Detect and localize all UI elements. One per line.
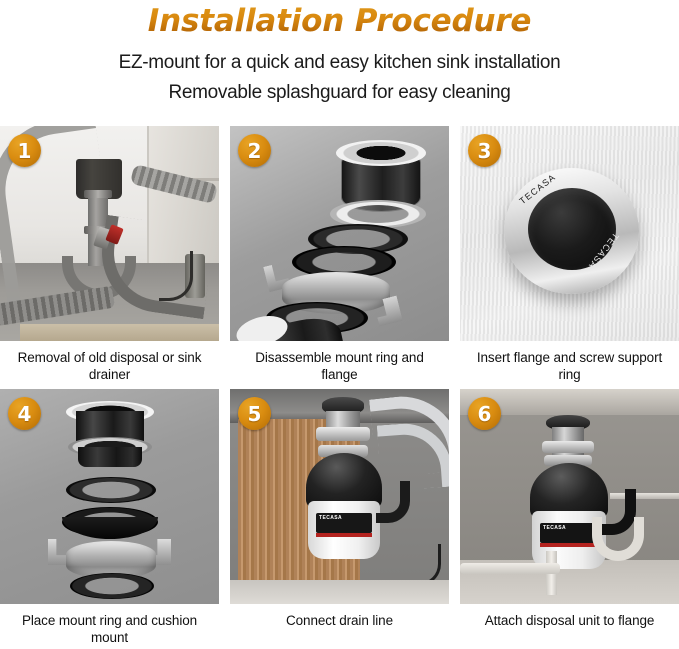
drain-line: [460, 563, 560, 574]
step-image-4: 4: [0, 389, 219, 604]
step-badge-3: 3: [468, 134, 501, 167]
step-caption-4: Place mount ring and cushion mount: [0, 604, 219, 649]
step-card-5: TECASA 5 Connect drain line: [230, 389, 449, 649]
drain-elbow: [376, 481, 410, 523]
step-card-4: 4 Place mount ring and cushion mount: [0, 389, 219, 649]
step-badge-5: 5: [238, 397, 271, 430]
step-badge-4: 4: [8, 397, 41, 430]
step-caption-6: Attach disposal unit to flange: [460, 604, 679, 635]
subtitle-line-1: EZ-mount for a quick and easy kitchen si…: [0, 48, 679, 78]
step-card-3: TECASA TECASA 3 Insert flange and screw …: [460, 126, 679, 389]
brand-text: TECASA: [319, 515, 342, 521]
fiber-gasket: [66, 477, 156, 503]
header: Installation Procedure EZ-mount for a qu…: [0, 0, 679, 108]
step-image-1: 1: [0, 126, 219, 341]
step-image-2: 2: [230, 126, 449, 341]
steps-grid: 1 Removal of old disposal or sink draine…: [0, 126, 679, 649]
step-number-5: 5: [248, 404, 262, 424]
step-number-3: 3: [478, 141, 492, 161]
step-image-6: TECASA 6: [460, 389, 679, 604]
step-caption-1: Removal of old disposal or sink drainer: [0, 341, 219, 389]
step-number-4: 4: [18, 404, 32, 424]
step-card-1: 1 Removal of old disposal or sink draine…: [0, 126, 219, 389]
step-caption-2: Disassemble mount ring and flange: [230, 341, 449, 389]
product-label: TECASA: [316, 513, 372, 533]
cushion-mount: [70, 573, 154, 599]
step-image-3: TECASA TECASA 3: [460, 126, 679, 341]
subtitle-block: EZ-mount for a quick and easy kitchen si…: [0, 48, 679, 108]
support-ring: [504, 168, 639, 294]
step-number-1: 1: [18, 141, 32, 161]
step-image-5: TECASA 5: [230, 389, 449, 604]
step-badge-6: 6: [468, 397, 501, 430]
cabinet-floor: [230, 580, 449, 604]
cabinet-plinth: [20, 324, 219, 341]
product-label: TECASA: [540, 523, 598, 543]
step-card-2: 2 Disassemble mount ring and flange: [230, 126, 449, 389]
step-number-6: 6: [478, 404, 492, 424]
brand-text: TECASA: [543, 525, 566, 531]
subtitle-line-2: Removable splashguard for easy cleaning: [0, 78, 679, 108]
flange-threads: [78, 447, 142, 467]
step-number-2: 2: [248, 141, 262, 161]
installation-procedure-infographic: Installation Procedure EZ-mount for a qu…: [0, 0, 679, 649]
step-badge-1: 1: [8, 134, 41, 167]
step-caption-3: Insert flange and screw support ring: [460, 341, 679, 389]
mount-ring: [542, 441, 594, 453]
step-card-6: TECASA 6 Attach disposal unit to flange: [460, 389, 679, 649]
backup-flange-wall: [62, 517, 158, 539]
flange-lip: [336, 140, 426, 166]
step-caption-5: Connect drain line: [230, 604, 449, 635]
page-title: Installation Procedure: [0, 2, 679, 40]
mount-ring: [316, 427, 370, 441]
step-badge-2: 2: [238, 134, 271, 167]
